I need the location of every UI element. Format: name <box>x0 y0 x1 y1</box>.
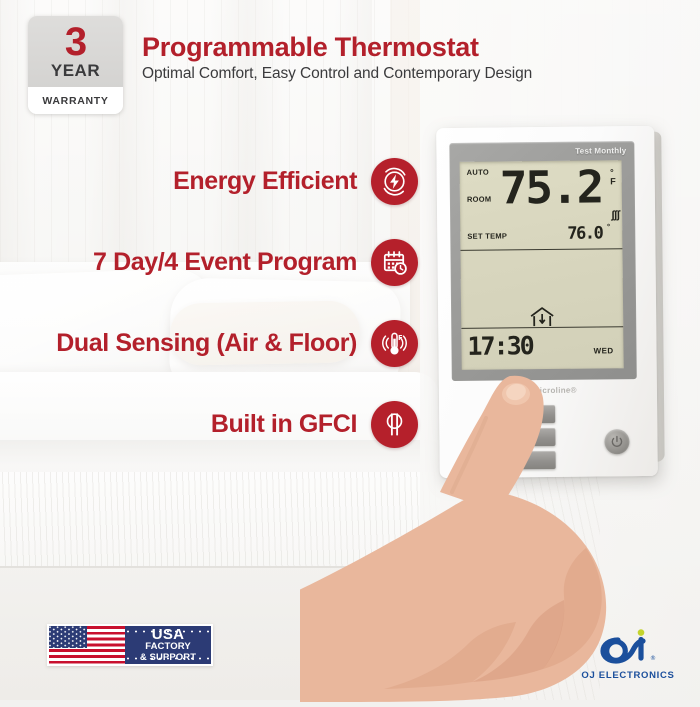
feature-row-energy-efficient: Energy Efficient <box>0 158 418 205</box>
svg-text:®: ® <box>650 655 656 662</box>
thermostat-device[interactable]: Test Monthly AUTO ROOM SET TEMP 75.2 ° F… <box>436 126 658 478</box>
lcd-unit-letter: F <box>610 178 616 187</box>
lcd-room-temperature: 75.2 <box>499 164 602 210</box>
us-flag-icon <box>49 626 125 664</box>
flag-canton <box>49 626 87 648</box>
lcd-set-degree-symbol: ° <box>607 222 610 231</box>
warranty-label: WARRANTY <box>42 95 108 107</box>
lcd-set-temp-label: SET TEMP <box>467 231 507 240</box>
calendar-clock-icon <box>371 239 418 286</box>
oj-monogram-icon: ® <box>592 628 664 664</box>
header: Programmable Thermostat Optimal Comfort,… <box>142 32 672 83</box>
feature-row-gfci: Built in GFCI <box>0 401 418 448</box>
feature-label: Energy Efficient <box>173 167 357 196</box>
badge-dots-top <box>125 629 211 634</box>
svg-text:F: F <box>398 334 403 342</box>
lcd-set-temperature: 76.0 <box>567 223 602 243</box>
gfci-outlet-icon <box>371 401 418 448</box>
warranty-badge: 3 YEAR WARRANTY <box>28 16 123 114</box>
house-icon <box>529 307 555 332</box>
thermometer-signal-icon: F <box>371 320 418 367</box>
up-button[interactable]: ▲ <box>487 405 555 424</box>
warranty-years-unit: YEAR <box>51 61 100 81</box>
thermostat-bezel: Test Monthly AUTO ROOM SET TEMP 75.2 ° F… <box>449 141 636 381</box>
lcd-temperature-unit: ° F <box>610 168 616 187</box>
power-button[interactable] <box>604 429 629 454</box>
feature-label: 7 Day/4 Event Program <box>93 248 357 277</box>
usa-badge-text: USA FACTORY & SUPPORT <box>125 626 211 664</box>
ok-button[interactable]: OK <box>487 428 555 447</box>
warranty-years-number: 3 <box>65 24 86 61</box>
energy-bolt-icon <box>371 158 418 205</box>
warranty-badge-bottom: WARRANTY <box>28 87 123 114</box>
down-button[interactable]: ▼ <box>488 451 556 470</box>
feature-row-program: 7 Day/4 Event Program <box>0 239 418 286</box>
page-title: Programmable Thermostat <box>142 32 672 62</box>
feature-label: Built in GFCI <box>211 410 357 439</box>
badge-dots-bottom <box>125 656 211 661</box>
feature-label: Dual Sensing (Air & Floor) <box>56 329 357 358</box>
lcd-room-label: ROOM <box>467 195 492 204</box>
power-icon <box>610 435 623 448</box>
page-subtitle: Optimal Comfort, Easy Control and Contem… <box>142 65 672 83</box>
test-monthly-label: Test Monthly <box>575 146 626 156</box>
lcd-clock-time: 17:30 <box>467 331 533 361</box>
lcd-divider-top <box>460 248 622 251</box>
lcd-weekday: WED <box>594 346 614 355</box>
oj-electronics-logo: ® OJ ELECTRONICS <box>578 628 678 681</box>
warranty-badge-top: 3 YEAR <box>28 16 123 87</box>
lcd-signal-waves: ʃʃʃ <box>611 209 619 221</box>
lcd-mode-auto: AUTO <box>467 168 489 177</box>
usa-factory-support-badge: USA FACTORY & SUPPORT <box>47 624 213 666</box>
feature-row-dual-sensing: Dual Sensing (Air & Floor) F <box>0 320 418 367</box>
oj-electronics-wordmark: OJ ELECTRONICS <box>578 670 678 681</box>
lcd-display: AUTO ROOM SET TEMP 75.2 ° F ʃʃʃ 76.0 ° 1… <box>460 160 624 370</box>
